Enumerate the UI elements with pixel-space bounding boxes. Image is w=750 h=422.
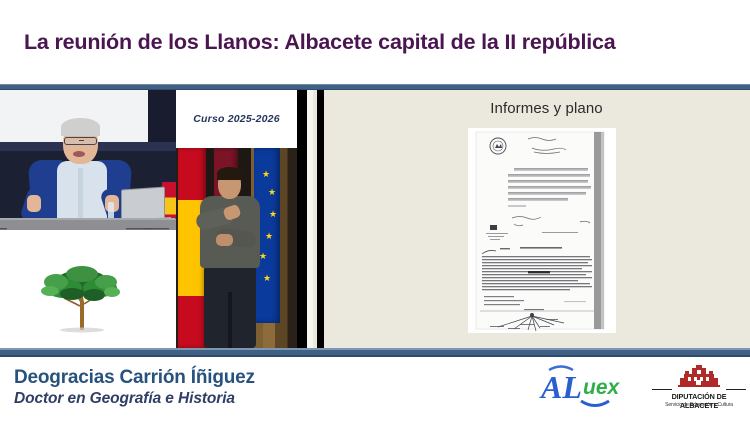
crest-rule-right <box>726 389 746 390</box>
page-title: La reunión de los Llanos: Albacete capit… <box>0 30 616 55</box>
aluex-logo-uex: uex <box>583 376 621 399</box>
interpreter-legs <box>204 266 256 348</box>
speaker-collar <box>78 168 83 218</box>
aluex-logo: AL uex <box>537 364 645 412</box>
eu-star: ★ <box>262 170 270 179</box>
eu-star: ★ <box>269 210 277 219</box>
speaker-hair <box>61 118 100 136</box>
course-year-card: Curso 2025-2026 <box>176 90 297 148</box>
diputacion-subtitle: Servicio de Educación y Cultura <box>652 402 746 408</box>
eu-star: ★ <box>263 274 271 283</box>
laptop-icon <box>121 186 165 221</box>
video-panel[interactable]: Curso 2025-2026 ★ ★ ★ ★ ★ ★ <box>0 90 313 348</box>
slide-heading: Informes y plano <box>313 100 750 117</box>
tree-icon <box>34 258 130 334</box>
aluex-logo-al: AL <box>539 369 582 405</box>
bottom-divider-rule <box>0 348 750 357</box>
course-year-label: Curso 2025-2026 <box>193 113 279 125</box>
speaker-mouth <box>73 151 85 157</box>
tile-divider <box>297 90 313 348</box>
presentation-stage: Curso 2025-2026 ★ ★ ★ ★ ★ ★ <box>0 90 750 348</box>
diputacion-albacete-logo: DIPUTACIÓN DE ALBACETE Servicio de Educa… <box>652 364 746 414</box>
interpreter-video-tile[interactable]: ★ ★ ★ ★ ★ ★ <box>176 148 297 348</box>
eu-star: ★ <box>265 232 273 241</box>
eu-star: ★ <box>259 252 267 261</box>
crest-rule-left <box>652 389 672 390</box>
speaker-hand-left <box>27 195 41 212</box>
presenter-role: Doctor en Geografía e Historia <box>14 390 235 408</box>
interpreter-hand-lower <box>216 234 233 246</box>
castle-crest-icon <box>652 364 746 390</box>
eu-star: ★ <box>268 188 276 197</box>
presenter-name: Deogracias Carrión Íñiguez <box>14 367 255 389</box>
interpreter-hair <box>217 167 242 180</box>
slide-left-bar <box>317 90 324 348</box>
scanned-document-image <box>468 128 616 333</box>
eyeglasses-icon <box>64 137 97 145</box>
title-band: La reunión de los Llanos: Albacete capit… <box>0 0 750 84</box>
slide-panel[interactable]: Informes y plano <box>313 90 750 348</box>
